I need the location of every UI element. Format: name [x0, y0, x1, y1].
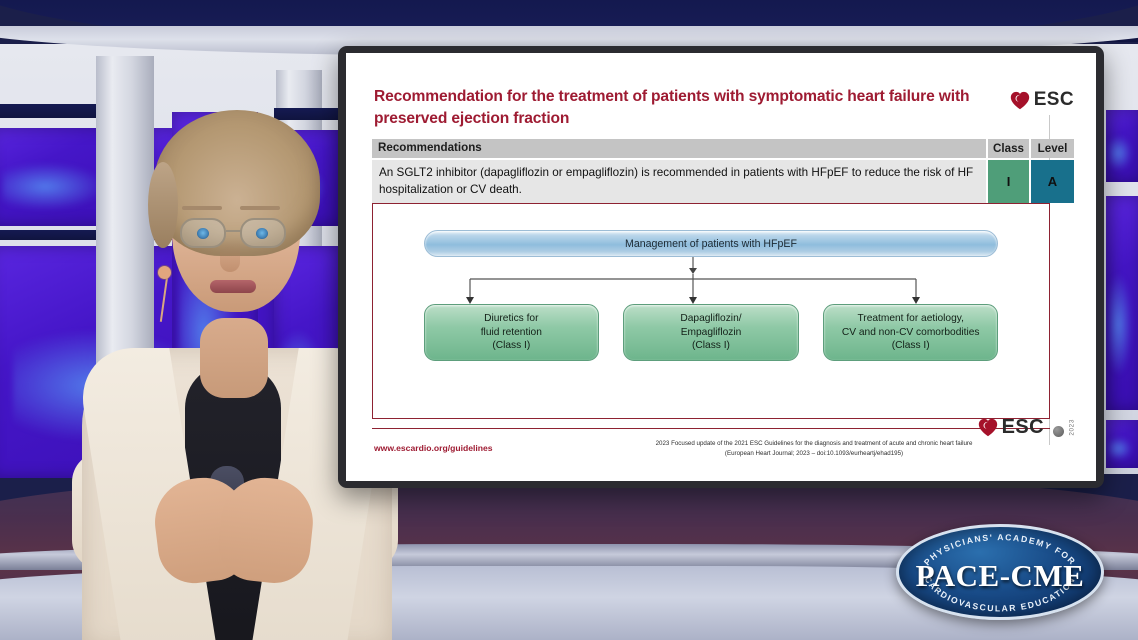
flow-node-diuretics: Diuretics for fluid retention (Class I): [424, 304, 599, 361]
table-row: An SGLT2 inhibitor (dapagliflozin or emp…: [372, 160, 1074, 203]
esc-wordmark: ESC: [1034, 89, 1074, 111]
citation-line-1: 2023 Focused update of the 2021 ESC Guid…: [604, 439, 1024, 449]
cell-level-value: A: [1031, 160, 1074, 203]
flow-node-line: Empagliflozin: [681, 326, 742, 339]
presenter-brow-right: [240, 206, 280, 210]
flow-connectors: [373, 257, 1013, 307]
esc-heart-icon: [977, 417, 999, 438]
glasses-bridge: [226, 230, 242, 232]
slide: Recommendation for the treatment of pati…: [346, 53, 1096, 481]
footer-url[interactable]: www.escardio.org/guidelines: [374, 443, 493, 453]
recommendation-table: Recommendations Class Level An SGLT2 inh…: [372, 139, 1074, 203]
flow-node-comorbidities: Treatment for aetiology, CV and non-CV c…: [823, 304, 998, 361]
microphone-icon: [158, 266, 171, 279]
table-header-row: Recommendations Class Level: [372, 139, 1074, 158]
flowchart: Management of patients with HFpEF: [373, 204, 1049, 418]
flow-node-line: (Class I): [892, 339, 930, 352]
flow-node-line: Treatment for aetiology,: [857, 312, 963, 325]
citation-line-2: (European Heart Journal; 2023 – doi:10.1…: [604, 449, 1024, 459]
pace-cme-wordmark: PACE-CME: [899, 558, 1101, 594]
header-recommendations: Recommendations: [372, 139, 988, 158]
microphone-wire: [160, 276, 168, 322]
esc-logo-footer: ESC: [977, 416, 1044, 439]
header-level: Level: [1031, 139, 1074, 158]
presenter-eye-right: [256, 228, 268, 239]
flow-node-line: fluid retention: [481, 326, 542, 339]
presenter-neck: [200, 318, 268, 398]
slide-corner-dot: [1053, 426, 1064, 437]
flow-node-line: Dapagliflozin/: [680, 312, 741, 325]
slide-year-mark: 2023: [1069, 419, 1076, 436]
flow-node-line: (Class I): [692, 339, 730, 352]
cell-recommendation-text: An SGLT2 inhibitor (dapagliflozin or emp…: [372, 160, 988, 203]
studio-stage: Recommendation for the treatment of pati…: [0, 0, 1138, 640]
header-class: Class: [988, 139, 1031, 158]
presentation-monitor: Recommendation for the treatment of pati…: [338, 46, 1104, 488]
presenter-nose: [220, 240, 240, 272]
wall-panel: [1106, 196, 1138, 410]
cell-class-value: I: [988, 160, 1031, 203]
flow-node-row: Diuretics for fluid retention (Class I) …: [373, 304, 1049, 361]
slide-title: Recommendation for the treatment of pati…: [374, 86, 1024, 129]
flow-node-line: Diuretics for: [484, 312, 538, 325]
pace-cme-logo: PHYSICIANS' ACADEMY FOR CARDIOVASCULAR E…: [896, 524, 1104, 620]
monitor-screen: Recommendation for the treatment of pati…: [346, 53, 1096, 481]
presenter-eye-left: [197, 228, 209, 239]
esc-logo-header: ESC: [1009, 89, 1074, 111]
flow-top-node: Management of patients with HFpEF: [424, 230, 999, 257]
footer-rule: [372, 428, 1050, 429]
esc-wordmark: ESC: [1002, 416, 1044, 439]
flowchart-frame: Management of patients with HFpEF: [372, 203, 1050, 419]
flow-node-line: CV and non-CV comorbodities: [842, 326, 980, 339]
wall-panel: [1106, 420, 1138, 468]
flow-node-sglt2: Dapagliflozin/ Empagliflozin (Class I): [623, 304, 798, 361]
presenter-brow-left: [182, 206, 222, 210]
footer-citation: 2023 Focused update of the 2021 ESC Guid…: [604, 439, 1024, 459]
esc-heart-icon: [1009, 90, 1031, 111]
presenter-mouth: [210, 280, 256, 293]
wall-panel: [1106, 110, 1138, 182]
flow-node-line: (Class I): [492, 339, 530, 352]
presenter-hair: [154, 110, 320, 256]
